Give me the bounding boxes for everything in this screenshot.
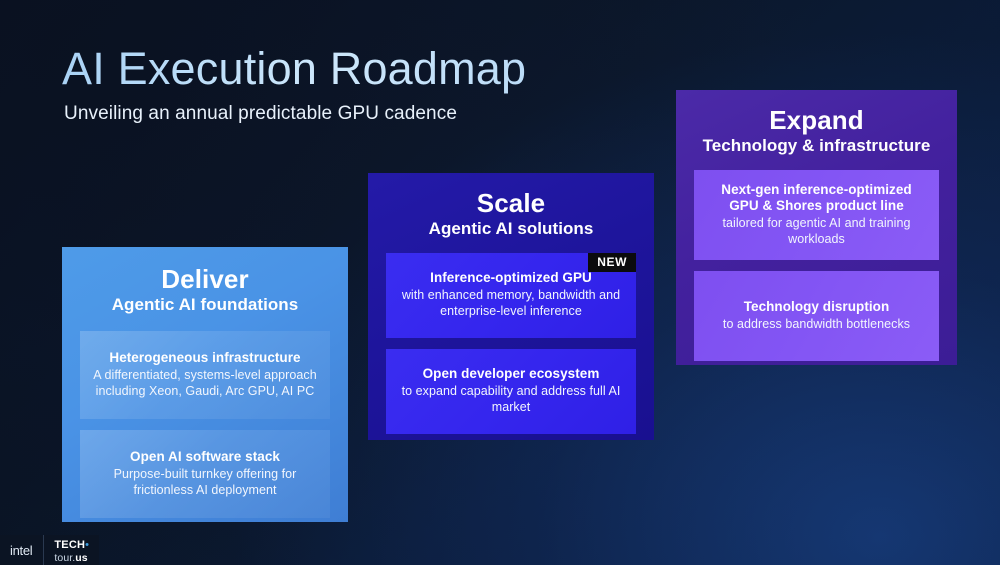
card-list-scale: NEW Inference-optimized GPU with enhance… <box>368 239 654 452</box>
roadmap-column-scale[interactable]: Scale Agentic AI solutions NEW Inference… <box>368 173 654 440</box>
roadmap-column-expand[interactable]: Expand Technology & infrastructure Next-… <box>676 90 957 365</box>
slide-header: AI Execution Roadmap Unveiling an annual… <box>62 44 526 125</box>
slide-canvas: AI Execution Roadmap Unveiling an annual… <box>0 0 1000 565</box>
roadmap-card[interactable]: Next-gen inference-optimized GPU & Shore… <box>694 170 939 260</box>
tech-tour-logo-top-line: TECH• <box>54 536 89 552</box>
card-list-expand: Next-gen inference-optimized GPU & Shore… <box>676 156 957 379</box>
roadmap-card[interactable]: Open developer ecosystem to expand capab… <box>386 349 636 434</box>
card-title: Heterogeneous infrastructure <box>109 350 300 367</box>
card-title: Technology disruption <box>744 299 890 316</box>
roadmap-column-deliver[interactable]: Deliver Agentic AI foundations Heterogen… <box>62 247 348 522</box>
card-description: A differentiated, systems-level approach… <box>92 368 318 400</box>
column-title: Deliver <box>62 265 348 293</box>
card-description: to expand capability and address full AI… <box>398 384 624 416</box>
card-title: Next-gen inference-optimized GPU & Shore… <box>705 182 928 216</box>
card-description: with enhanced memory, bandwidth and ente… <box>398 288 624 320</box>
roadmap-card[interactable]: NEW Inference-optimized GPU with enhance… <box>386 253 636 338</box>
card-description: Purpose-built turnkey offering for frict… <box>92 467 318 499</box>
tech-tour-logo: TECH• tour.us <box>44 535 99 565</box>
card-description: tailored for agentic AI and training wor… <box>705 216 928 248</box>
status-badge-new: NEW <box>588 253 636 272</box>
column-subtitle: Technology & infrastructure <box>676 136 957 156</box>
card-description: to address bandwidth bottlenecks <box>723 317 910 333</box>
tech-dot-icon: • <box>85 539 89 551</box>
tour-wordmark: tour. <box>54 552 75 564</box>
column-subtitle: Agentic AI foundations <box>62 295 348 315</box>
column-subtitle: Agentic AI solutions <box>368 219 654 239</box>
column-header-scale: Scale Agentic AI solutions <box>368 173 654 239</box>
column-header-expand: Expand Technology & infrastructure <box>676 90 957 156</box>
page-title: AI Execution Roadmap <box>62 44 526 94</box>
card-list-deliver: Heterogeneous infrastructure A different… <box>62 315 348 536</box>
card-title: Inference-optimized GPU <box>430 270 592 287</box>
page-subtitle: Unveiling an annual predictable GPU cade… <box>64 103 526 125</box>
column-title: Expand <box>676 106 957 134</box>
footer-logos: intel TECH• tour.us <box>0 535 99 565</box>
column-header-deliver: Deliver Agentic AI foundations <box>62 247 348 315</box>
roadmap-card[interactable]: Technology disruption to address bandwid… <box>694 271 939 361</box>
us-wordmark: us <box>75 552 87 564</box>
tech-wordmark: TECH <box>54 539 85 551</box>
column-title: Scale <box>368 189 654 217</box>
roadmap-card[interactable]: Heterogeneous infrastructure A different… <box>80 331 330 419</box>
tech-tour-logo-bottom-line: tour.us <box>54 553 89 564</box>
intel-logo: intel <box>0 535 43 565</box>
card-title: Open developer ecosystem <box>423 366 600 383</box>
card-title: Open AI software stack <box>130 449 280 466</box>
roadmap-card[interactable]: Open AI software stack Purpose-built tur… <box>80 430 330 518</box>
